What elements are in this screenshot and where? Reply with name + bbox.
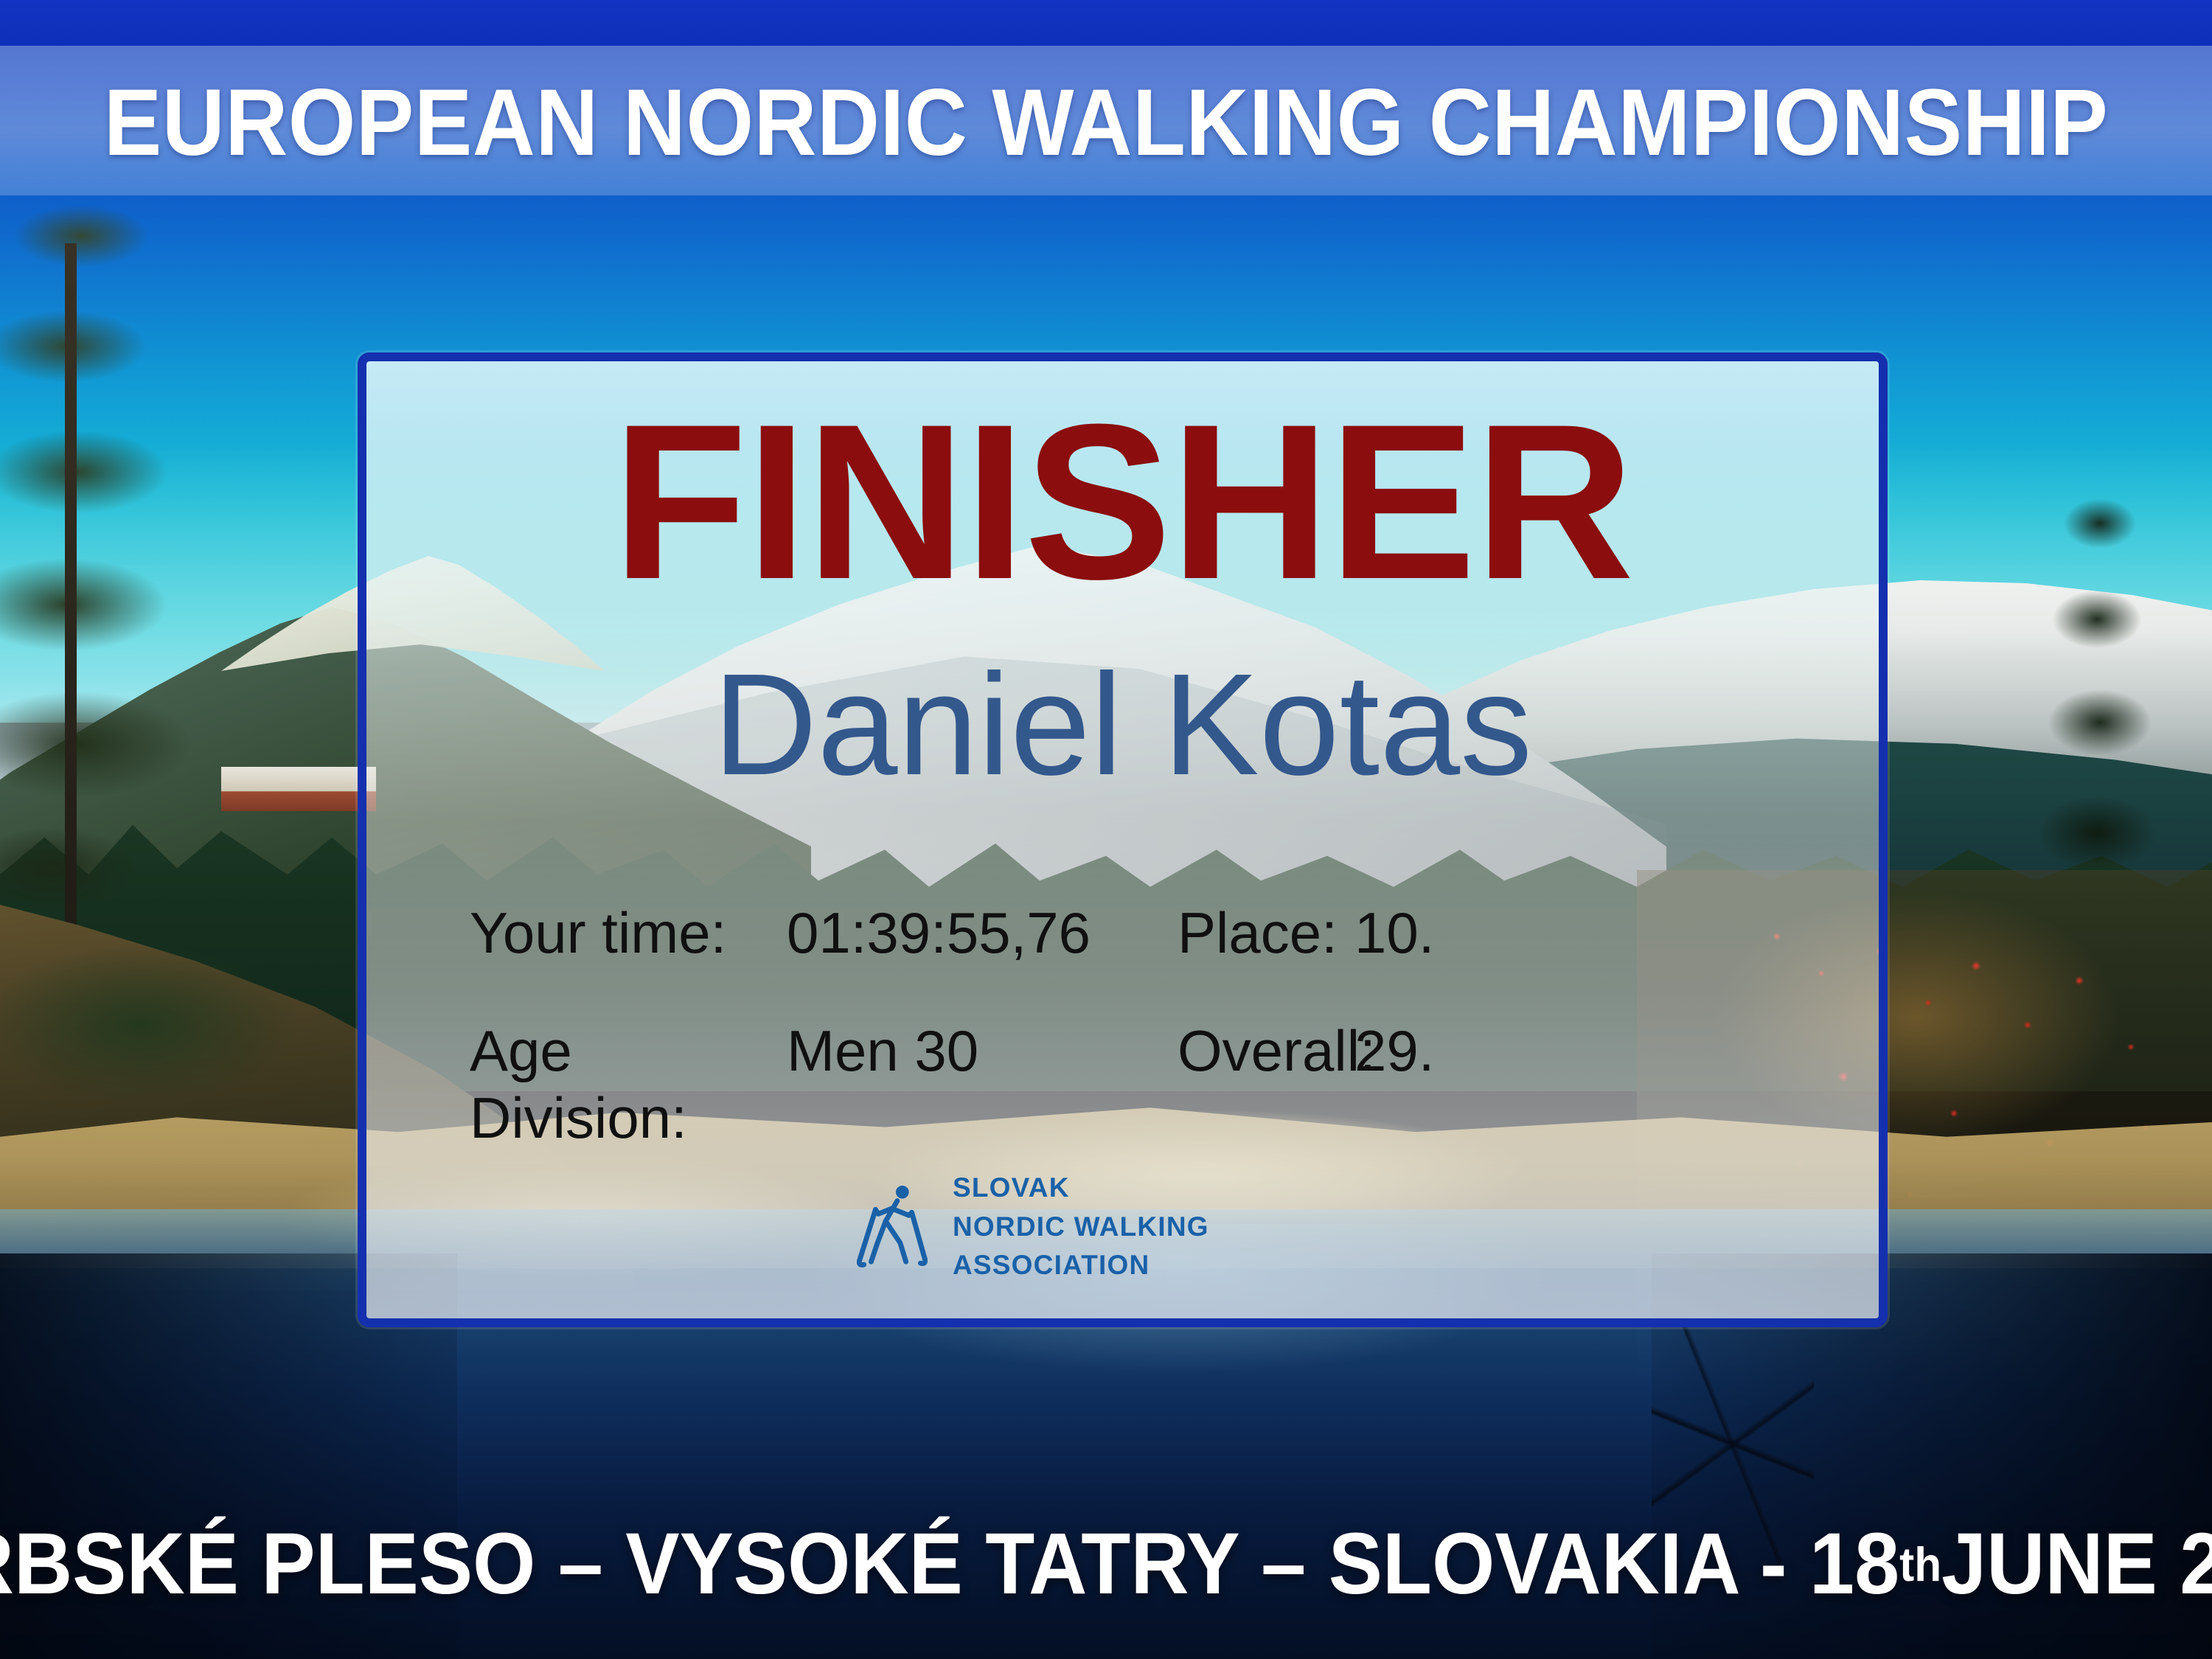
age-division-value: Men 30 <box>787 1018 1178 1085</box>
result-stats: Your time: 01:39:55,76 Place: 10. Age Di… <box>470 900 1723 1135</box>
place-value: 10. <box>1354 900 1502 967</box>
logo-line-3: ASSOCIATION <box>953 1246 1209 1285</box>
slovak-nordic-walking-association-logo: SLOVAK NORDIC WALKING ASSOCIATION <box>849 1169 1209 1285</box>
certificate-card: FINISHER Daniel Kotas Your time: 01:39:5… <box>358 352 1888 1327</box>
top-banner-stripe <box>0 0 2212 46</box>
venue-date-caption: ŠTRBSKÉ PLESO – VYSOKÉ TATRY – SLOVAKIA … <box>77 1509 2135 1619</box>
table-row: Your time: 01:39:55,76 Place: 10. <box>470 900 1723 1018</box>
venue-text: ŠTRBSKÉ PLESO – VYSOKÉ TATRY – SLOVAKIA … <box>0 1514 1899 1614</box>
finisher-title: FINISHER <box>366 391 1879 612</box>
logo-line-1: SLOVAK <box>953 1169 1209 1208</box>
athlete-name: Daniel Kotas <box>366 649 1879 801</box>
event-title: EUROPEAN NORDIC WALKING CHAMPIONSHIP <box>88 56 2124 189</box>
overall-label: Overall: <box>1178 1018 1354 1085</box>
nordic-walker-icon <box>849 1183 936 1270</box>
place-label: Place: <box>1178 900 1354 967</box>
time-label: Your time: <box>470 900 787 967</box>
logo-line-2: NORDIC WALKING <box>953 1208 1209 1247</box>
date-text: JUNE 2016 <box>1941 1514 2212 1614</box>
table-row: Age Division: Men 30 Overall: 29. <box>470 1018 1723 1135</box>
overall-value: 29. <box>1354 1018 1502 1085</box>
finisher-certificate-image: EUROPEAN NORDIC WALKING CHAMPIONSHIP FIN… <box>0 0 2212 1659</box>
ordinal-suffix: th <box>1899 1537 1941 1592</box>
time-value: 01:39:55,76 <box>787 900 1178 967</box>
age-division-label: Age Division: <box>470 1018 787 1152</box>
logo-text-block: SLOVAK NORDIC WALKING ASSOCIATION <box>953 1169 1209 1285</box>
